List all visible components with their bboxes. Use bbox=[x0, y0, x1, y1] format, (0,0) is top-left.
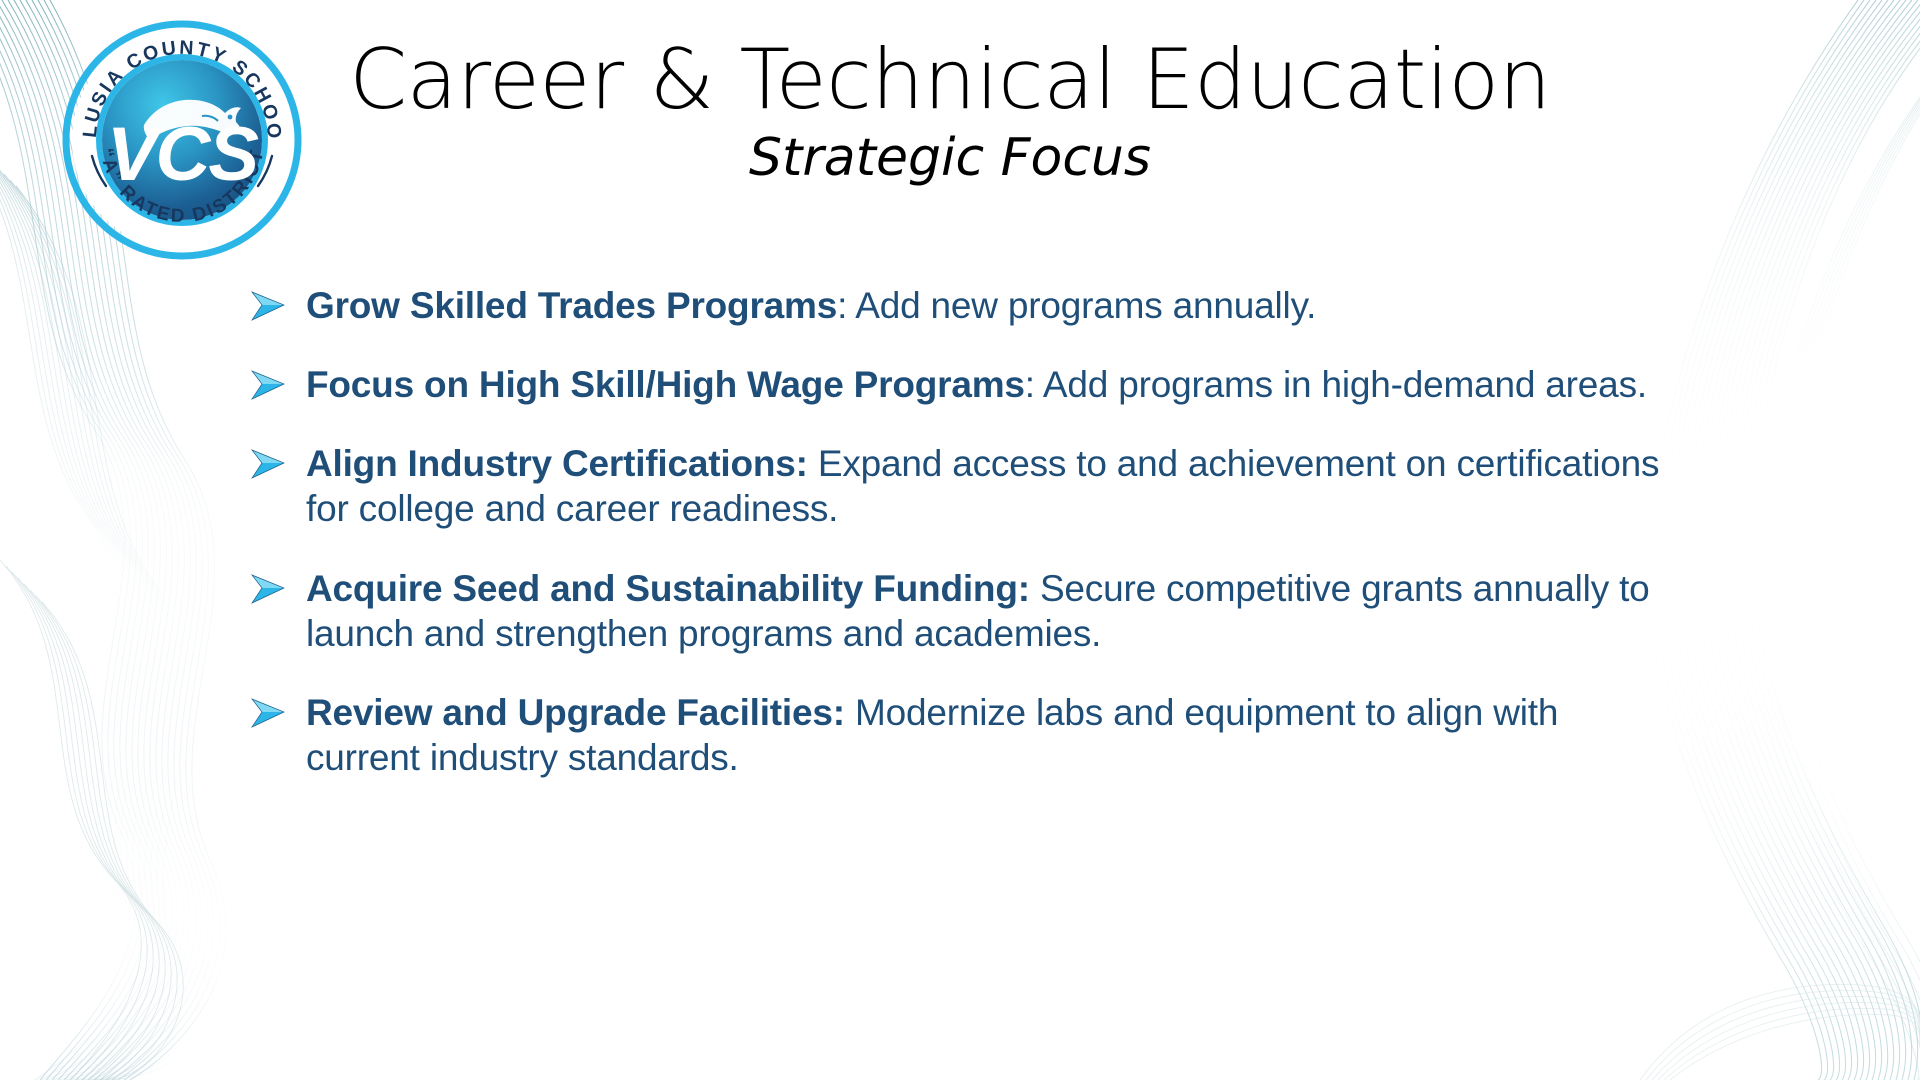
list-item: Review and Upgrade Facilities: Modernize… bbox=[250, 690, 1670, 780]
list-item-rest: : Add new programs annually. bbox=[837, 285, 1316, 326]
strategic-focus-bullet-list: Grow Skilled Trades Programs: Add new pr… bbox=[250, 283, 1670, 814]
list-item-text: Acquire Seed and Sustainability Funding:… bbox=[306, 566, 1670, 656]
list-item: Grow Skilled Trades Programs: Add new pr… bbox=[250, 283, 1670, 328]
list-item: Acquire Seed and Sustainability Funding:… bbox=[250, 566, 1670, 656]
volusia-county-schools-logo: VOLUSIA COUNTY SCHOOLS “A” RATED DISTRIC… bbox=[62, 20, 302, 260]
logo-monogram: VCS bbox=[107, 112, 259, 197]
list-item-lead: Review and Upgrade Facilities: bbox=[306, 692, 845, 733]
list-item: Align Industry Certifications: Expand ac… bbox=[250, 441, 1670, 531]
list-item-lead: Align Industry Certifications: bbox=[306, 443, 808, 484]
arrow-bullet-icon bbox=[250, 441, 306, 481]
list-item-text: Align Industry Certifications: Expand ac… bbox=[306, 441, 1670, 531]
title-block: Career & Technical Education Strategic F… bbox=[300, 38, 1600, 185]
arrow-bullet-icon bbox=[250, 566, 306, 606]
arrow-bullet-icon bbox=[250, 690, 306, 730]
list-item: Focus on High Skill/High Wage Programs: … bbox=[250, 362, 1670, 407]
slide-canvas: VOLUSIA COUNTY SCHOOLS “A” RATED DISTRIC… bbox=[0, 0, 1920, 1080]
page-subtitle: Strategic Focus bbox=[300, 131, 1600, 186]
arrow-bullet-icon bbox=[250, 283, 306, 323]
page-title: Career & Technical Education bbox=[300, 38, 1600, 123]
list-item-text: Review and Upgrade Facilities: Modernize… bbox=[306, 690, 1670, 780]
list-item-text: Focus on High Skill/High Wage Programs: … bbox=[306, 362, 1670, 407]
arrow-bullet-icon bbox=[250, 362, 306, 402]
list-item-lead: Focus on High Skill/High Wage Programs bbox=[306, 364, 1025, 405]
list-item-lead: Acquire Seed and Sustainability Funding: bbox=[306, 568, 1030, 609]
list-item-rest: : Add programs in high-demand areas. bbox=[1025, 364, 1647, 405]
list-item-text: Grow Skilled Trades Programs: Add new pr… bbox=[306, 283, 1670, 328]
list-item-lead: Grow Skilled Trades Programs bbox=[306, 285, 837, 326]
